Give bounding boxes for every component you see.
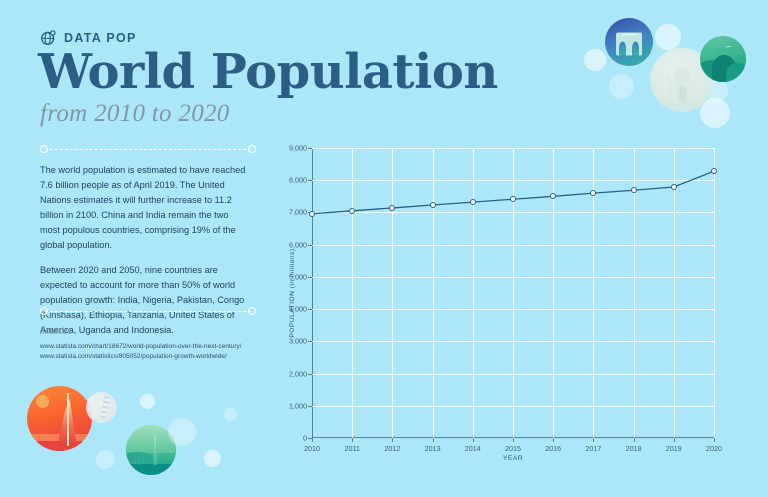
data-point-marker[interactable] [631, 187, 637, 193]
water-band [126, 464, 176, 475]
x-tick-label: 2017 [585, 444, 601, 453]
skyline-building [138, 457, 140, 465]
arc-structure [616, 32, 642, 55]
data-point-marker[interactable] [309, 211, 315, 217]
data-point-marker[interactable] [550, 193, 556, 199]
divider-dashed-line [45, 311, 251, 312]
y-tick-label: 5,000 [289, 272, 307, 281]
x-tick-mark [312, 438, 313, 442]
y-tick-label: 6,000 [289, 240, 307, 249]
arc-de-triomphe-medallion [605, 18, 653, 66]
decor-bubble [96, 450, 115, 469]
data-point-marker[interactable] [389, 205, 395, 211]
x-tick-label: 2010 [304, 444, 320, 453]
body-copy: The world population is estimated to hav… [40, 163, 250, 349]
sources-section: Sources www.statista.com/chart/18672/wor… [40, 326, 270, 361]
decor-bubble [609, 74, 634, 99]
x-tick-mark [433, 438, 434, 442]
infographic-page: DATA POP World Population from 2010 to 2… [0, 0, 768, 497]
body-paragraph-1: The world population is estimated to hav… [40, 163, 250, 252]
page-subtitle: from 2010 to 2020 [40, 100, 230, 128]
taj-archway [678, 85, 687, 100]
taj-minaret [660, 75, 664, 101]
skyline-building [134, 453, 136, 464]
x-tick-mark [392, 438, 393, 442]
decor-bubble [655, 24, 681, 50]
decor-bubble [584, 49, 606, 71]
x-tick-label: 2013 [425, 444, 441, 453]
decor-bubble [204, 450, 221, 467]
data-point-marker[interactable] [510, 196, 516, 202]
x-tick-label: 2019 [666, 444, 682, 453]
x-tick-mark [634, 438, 635, 442]
bird-icon [726, 46, 731, 50]
arc-archway-left [619, 41, 627, 55]
data-point-marker[interactable] [671, 184, 677, 190]
x-tick-mark [714, 438, 715, 442]
green-landscape-medallion [700, 36, 746, 82]
x-tick-label: 2011 [344, 444, 359, 453]
x-tick-mark [553, 438, 554, 442]
y-tick-label: 0 [303, 434, 307, 443]
hill-shape [726, 63, 746, 82]
x-tick-mark [593, 438, 594, 442]
divider-top [40, 145, 256, 154]
divider-endpoint-right [248, 145, 256, 153]
x-tick-label: 2016 [545, 444, 561, 453]
arc-cornice [621, 34, 637, 36]
burj-al-arab-medallion [27, 386, 92, 451]
skyline-building [142, 455, 144, 465]
page-title: World Population [38, 48, 498, 96]
data-point-marker[interactable] [470, 199, 476, 205]
decor-bubble [140, 394, 155, 409]
arc-archway-right [632, 41, 640, 55]
x-tick-label: 2020 [706, 444, 722, 453]
x-tick-mark [513, 438, 514, 442]
y-tick-label: 3,000 [289, 337, 307, 346]
source-link[interactable]: www.statista.com/statistics/805052/popul… [40, 352, 270, 362]
burj-mast [67, 393, 69, 446]
leaning-tower-shape [100, 396, 110, 419]
brand-name: DATA POP [64, 31, 137, 45]
x-tick-label: 2012 [384, 444, 400, 453]
x-tick-label: 2015 [505, 444, 521, 453]
statue-of-liberty-medallion [126, 425, 176, 475]
y-tick-label: 7,000 [289, 208, 307, 217]
sky-band [126, 425, 176, 453]
x-tick-label: 2014 [465, 444, 481, 453]
sources-label: Sources [40, 326, 270, 337]
data-point-marker[interactable] [711, 168, 717, 174]
grid-line-vertical [714, 148, 715, 438]
y-tick-label: 8,000 [289, 176, 307, 185]
taj-base [655, 101, 709, 105]
data-point-marker[interactable] [590, 190, 596, 196]
divider-dashed-line [45, 149, 251, 150]
x-tick-mark [473, 438, 474, 442]
y-tick-label: 2,000 [289, 369, 307, 378]
taj-dome [674, 67, 691, 84]
series-line [312, 148, 714, 438]
x-tick-label: 2018 [626, 444, 642, 453]
y-tick-label: 1,000 [289, 401, 307, 410]
data-point-marker[interactable] [430, 202, 436, 208]
chart-plot-area: POPULATION (in millions) YEAR 01,0002,00… [312, 148, 714, 438]
data-point-marker[interactable] [349, 208, 355, 214]
x-tick-mark [352, 438, 353, 442]
y-axis-title: POPULATION (in millions) [289, 248, 296, 337]
divider-endpoint-right [248, 307, 256, 315]
source-link[interactable]: www.statista.com/chart/18672/world-popul… [40, 342, 270, 352]
sun-shape [36, 395, 49, 408]
x-tick-mark [674, 438, 675, 442]
decor-bubble [224, 408, 237, 421]
y-tick-label: 4,000 [289, 305, 307, 314]
x-axis-title: YEAR [503, 455, 523, 462]
divider-bottom [40, 307, 256, 316]
population-line-chart: POPULATION (in millions) YEAR 01,0002,00… [290, 136, 742, 476]
pisa-tower-medallion [86, 392, 117, 423]
y-tick-label: 9,000 [289, 144, 307, 153]
